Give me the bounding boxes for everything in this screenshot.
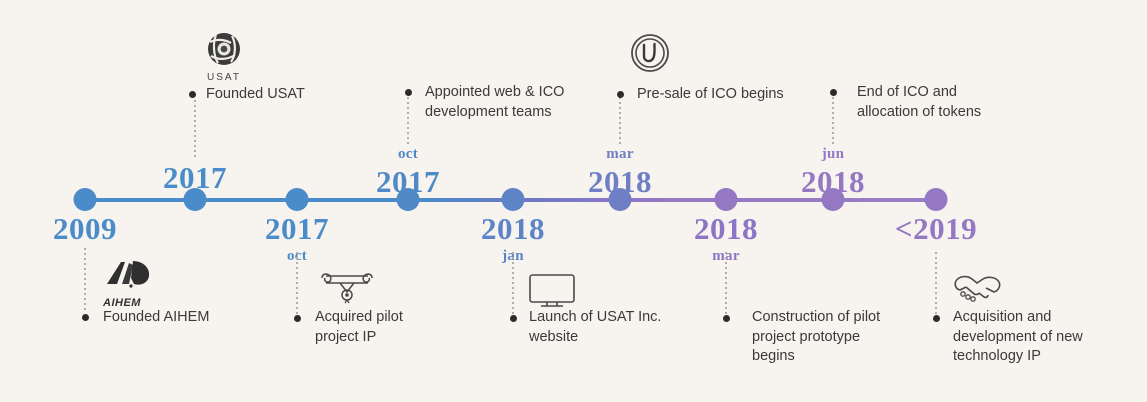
event-text-founded-aihem: Founded AIHEM xyxy=(103,308,303,328)
date-month: jun xyxy=(801,147,865,162)
event-bullet-e2 xyxy=(189,91,196,98)
timeline-node-2017-oct[interactable] xyxy=(286,188,309,211)
connector-line-e2 xyxy=(194,100,196,158)
patent-scroll-icon xyxy=(318,270,376,309)
connector-line-e3 xyxy=(296,252,298,314)
date-label-2017-above: 2017 xyxy=(163,162,227,193)
date-label-2018-mar-above: mar 2018 xyxy=(588,147,652,197)
usat-logo-caption: USAT xyxy=(198,72,250,83)
connector-line-e5 xyxy=(512,252,514,314)
date-year: 2017 xyxy=(265,213,329,244)
event-text-launch-website: Launch of USAT Inc. website xyxy=(529,308,729,347)
usat-globe-svg xyxy=(204,30,244,70)
monitor-svg xyxy=(527,272,579,310)
date-year: 2018 xyxy=(588,166,652,197)
connector-line-e7 xyxy=(725,252,727,314)
aihem-mark-svg xyxy=(103,258,155,290)
event-bullet-e3 xyxy=(294,315,301,322)
event-text-presale-ico: Pre-sale of ICO begins xyxy=(637,85,857,105)
date-label-2018-jun-above: jun 2018 xyxy=(801,147,865,197)
event-bullet-e4 xyxy=(405,89,412,96)
timeline-node-2019[interactable] xyxy=(925,188,948,211)
date-year: 2018 xyxy=(694,213,758,244)
handshake-icon xyxy=(950,272,1004,311)
event-bullet-e6 xyxy=(617,91,624,98)
usat-globe-logo-icon: USAT xyxy=(198,30,250,83)
timeline-node-2018-jan[interactable] xyxy=(502,188,525,211)
event-text-appointed-teams: Appointed web & ICO development teams xyxy=(425,83,645,122)
event-bullet-e8 xyxy=(830,89,837,96)
date-year: 2009 xyxy=(53,213,117,244)
connector-line-e9 xyxy=(935,252,937,314)
event-bullet-e9 xyxy=(933,315,940,322)
connector-line-e1 xyxy=(84,248,86,312)
patent-scroll-svg xyxy=(318,270,376,304)
ico-coin-icon xyxy=(629,32,671,79)
timeline-node-2009[interactable] xyxy=(74,188,97,211)
date-year: <2019 xyxy=(895,213,977,244)
event-text-acquired-pilot-ip: Acquired pilot project IP xyxy=(315,308,515,347)
date-month: mar xyxy=(588,147,652,162)
ico-coin-svg xyxy=(629,32,671,74)
date-year: 2017 xyxy=(376,166,440,197)
event-text-construction-prototype: Construction of pilot project prototype … xyxy=(752,308,952,367)
event-text-acquisition-development: Acquisition and development of new techn… xyxy=(953,308,1147,367)
connector-line-e4 xyxy=(407,97,409,145)
date-month: oct xyxy=(376,147,440,162)
date-year: 2018 xyxy=(801,166,865,197)
date-year: 2017 xyxy=(163,162,227,193)
date-year: 2018 xyxy=(481,213,545,244)
event-bullet-e7 xyxy=(723,315,730,322)
date-label-2017-oct-above: oct 2017 xyxy=(376,147,440,197)
handshake-svg xyxy=(950,272,1004,306)
timeline-infographic: 2009 2017 oct 2018 jan 2018 mar <2019 20… xyxy=(0,0,1147,402)
event-text-end-of-ico: End of ICO and allocation of tokens xyxy=(857,83,1077,122)
aihem-logo-icon: AIHEM xyxy=(103,258,161,309)
timeline-node-2018-mar-2[interactable] xyxy=(715,188,738,211)
date-label-2009: 2009 xyxy=(53,213,117,244)
date-label-2019: <2019 xyxy=(895,213,977,244)
event-bullet-e5 xyxy=(510,315,517,322)
event-bullet-e1 xyxy=(82,314,89,321)
event-text-founded-usat: Founded USAT xyxy=(206,85,406,105)
